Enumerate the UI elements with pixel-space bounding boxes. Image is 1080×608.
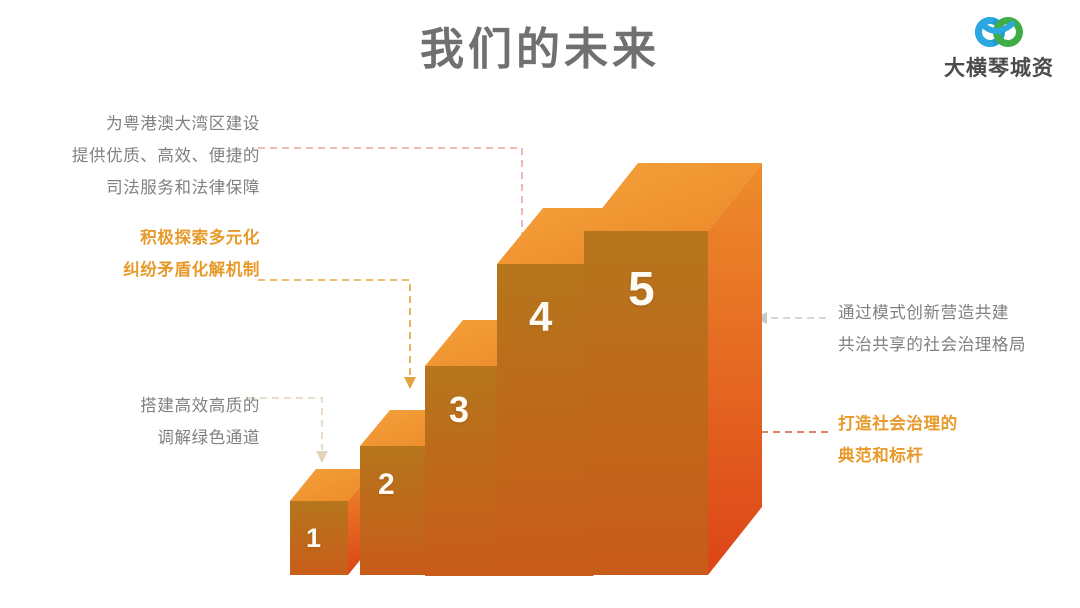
bar-block-5[interactable]: 5 (584, 163, 776, 575)
callout-3-line-2: 调解绿色通道 (50, 422, 260, 454)
bar-5-label: 5 (628, 266, 655, 314)
bar-3-label: 3 (449, 392, 469, 428)
callout-text-5: 打造社会治理的 典范和标杆 (838, 408, 1068, 472)
slide-canvas: 我们的未来 大横琴城资 (0, 0, 1080, 608)
callout-1-line-1: 为粤港澳大湾区建设 (30, 108, 260, 140)
callout-3-line-1: 搭建高效高质的 (50, 390, 260, 422)
bar-2-label: 2 (378, 470, 395, 500)
bar-5-right-face (708, 163, 762, 575)
callout-5-line-2: 典范和标杆 (838, 440, 1068, 472)
callout-5-line-1: 打造社会治理的 (838, 408, 1068, 440)
callout-text-2: 积极探索多元化 纠纷矛盾化解机制 (50, 222, 260, 286)
callout-4-line-2: 共治共享的社会治理格局 (838, 329, 1068, 361)
callout-text-1: 为粤港澳大湾区建设 提供优质、高效、便捷的 司法服务和法律保障 (30, 108, 260, 205)
callout-text-4: 通过模式创新营造共建 共治共享的社会治理格局 (838, 297, 1068, 361)
callout-2-line-1: 积极探索多元化 (50, 222, 260, 254)
callout-text-3: 搭建高效高质的 调解绿色通道 (50, 390, 260, 454)
bar-1-label: 1 (306, 525, 321, 552)
bar-4-label: 4 (529, 296, 552, 338)
callout-1-line-3: 司法服务和法律保障 (30, 172, 260, 204)
callout-1-line-2: 提供优质、高效、便捷的 (30, 140, 260, 172)
callout-4-line-1: 通过模式创新营造共建 (838, 297, 1068, 329)
callout-2-line-2: 纠纷矛盾化解机制 (50, 254, 260, 286)
bar-2-front-face (360, 446, 430, 575)
